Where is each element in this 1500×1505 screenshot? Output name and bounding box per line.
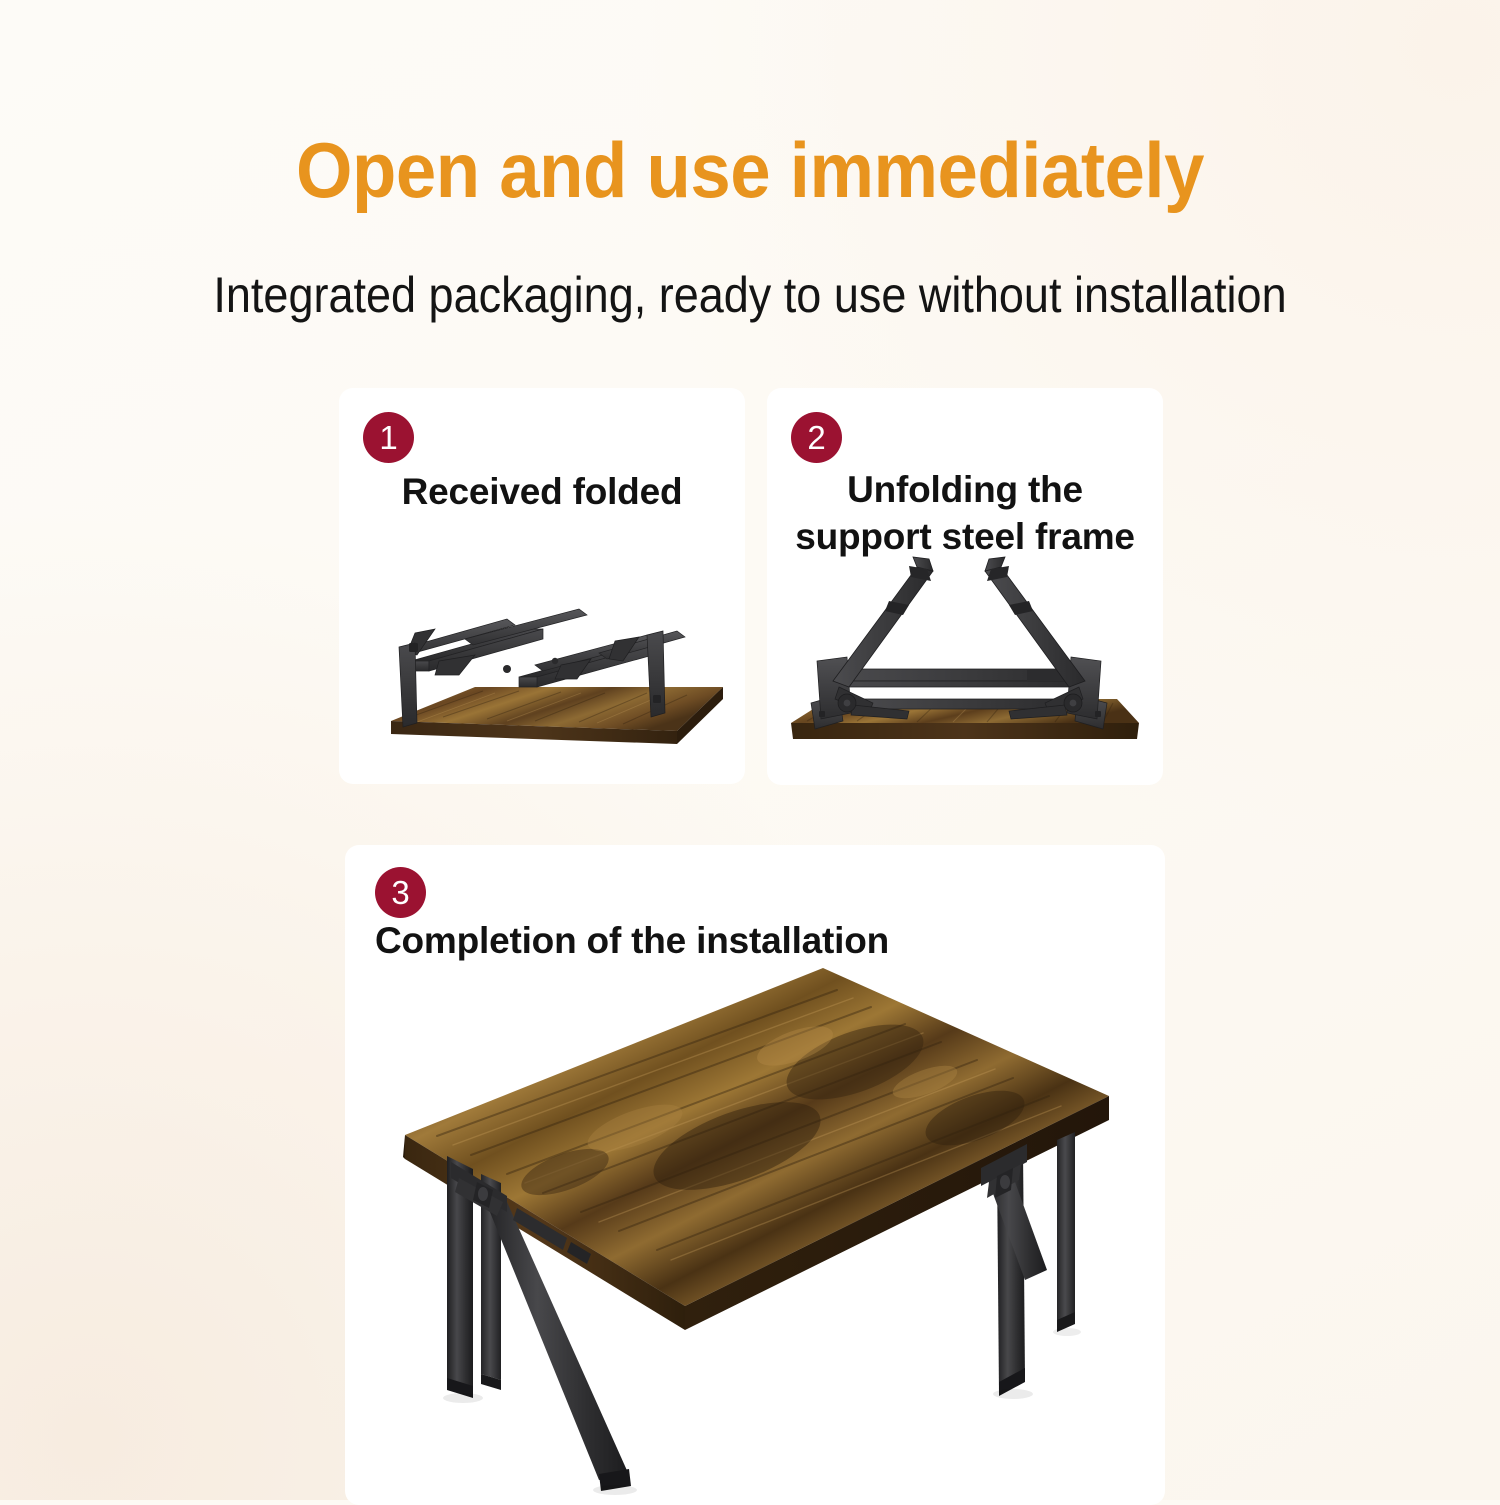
step-card-3: 3 Completion of the installation <box>345 845 1165 1505</box>
step-badge-2: 2 <box>791 412 842 463</box>
step-card-2: 2 Unfolding the support steel frame <box>767 388 1163 785</box>
step-badge-1: 1 <box>363 412 414 463</box>
page-title: Open and use immediately <box>53 124 1448 216</box>
page-subtitle: Integrated packaging, ready to use witho… <box>75 264 1425 326</box>
step-title-2: Unfolding the support steel frame <box>781 466 1149 560</box>
assembled-table-illustration <box>385 950 1125 1505</box>
step-badge-3: 3 <box>375 867 426 918</box>
unfolding-frame-illustration <box>777 553 1155 768</box>
step-card-1: 1 Received folded <box>339 388 745 784</box>
infographic-page: Open and use immediately Integrated pack… <box>0 0 1500 1500</box>
folded-table-illustration <box>347 603 737 763</box>
step-title-1: Received folded <box>359 468 725 516</box>
